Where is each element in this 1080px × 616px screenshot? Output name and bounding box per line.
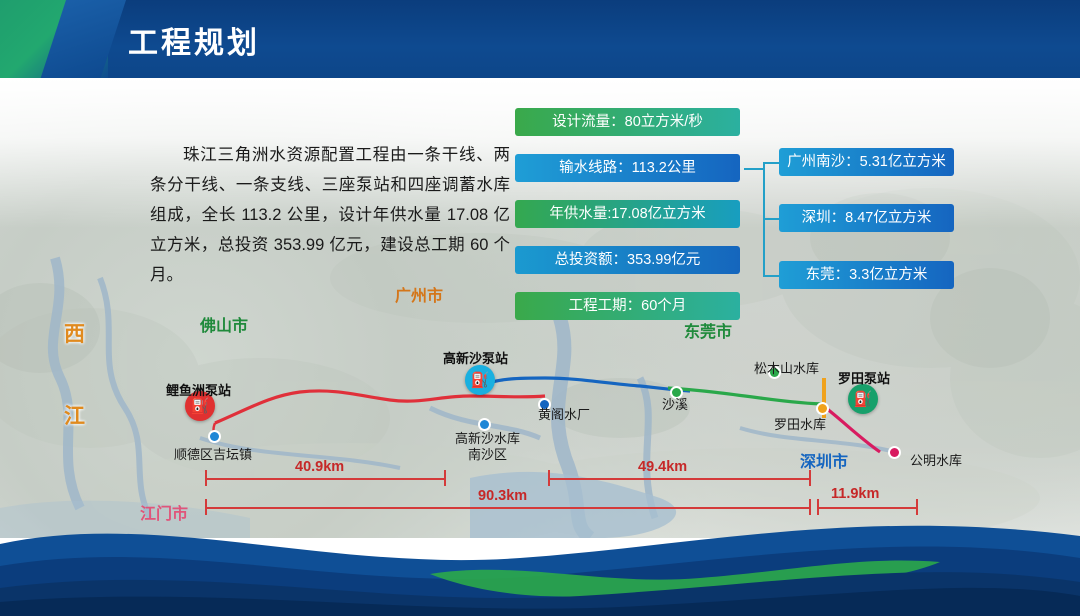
dot-luotian-reservoir [818,404,827,413]
pump-station-icon: ⛽ [471,373,490,388]
dot-gongming-reservoir [890,448,899,457]
pump-station-icon: ⛽ [191,399,210,414]
pin-luotian-pump-station[interactable]: ⛽ [848,384,878,414]
label-liyuzhou-pump-station: 鲤鱼洲泵站 [166,380,231,399]
dot-shundequ [210,432,219,441]
slide: 工程规划 [0,0,1080,616]
label-gongming-reservoir: 公明水库 [910,450,962,469]
pump-station-icon: ⛽ [854,392,873,407]
label-huangge-plant: 黄阁水厂 [538,404,590,423]
page-title: 工程规划 [128,18,260,62]
dimension-label-40-9: 40.9km [295,459,344,475]
dimension-tick-left-40-9 [205,470,207,486]
dimension-tick-left-49-4 [548,470,550,486]
route-red-main [215,391,545,423]
label-gaoxinsha-pump-station: 高新沙泵站 [443,348,508,367]
label-nanshaqu: 南沙区 [468,444,507,463]
route-magenta-branch [826,408,880,452]
label-shaxi: 沙溪 [662,394,688,413]
slide-header: 工程规划 [0,0,1080,78]
dimension-line-49-4 [548,478,810,480]
footer-wave-svg [0,500,1080,616]
label-shundequ-jitanzhen: 顺德区吉坛镇 [174,444,252,463]
dimension-label-49-4: 49.4km [638,459,687,475]
label-luotian-pump-station: 罗田泵站 [838,368,890,387]
pin-gaoxinsha-pump-station[interactable]: ⛽ [465,365,495,395]
dimension-tick-right-49-4 [809,470,811,486]
route-green-main [668,388,826,404]
dimension-tick-right-40-9 [444,470,446,486]
route-blue-main [478,378,690,391]
dimension-line-40-9 [205,478,445,480]
footer-waves [0,500,1080,616]
label-luotian-reservoir: 罗田水库 [774,414,826,433]
label-songmushan-reservoir: 松木山水库 [754,358,819,377]
route-layer [0,78,1080,538]
